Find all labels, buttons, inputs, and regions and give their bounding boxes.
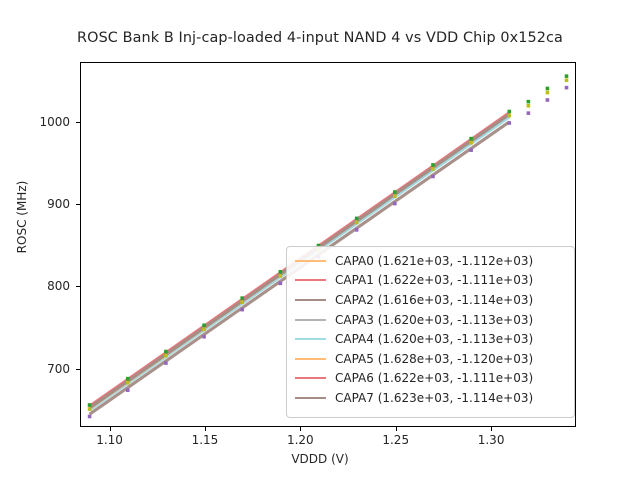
data-point [431,163,435,167]
x-tick-label: 1.20 [265,434,335,446]
legend-item-capa4[interactable]: CAPA4 (1.620e+03, -1.113e+03) [293,329,568,349]
data-point [240,296,244,300]
data-point [393,194,397,198]
data-point [279,282,283,286]
y-tick-label: 700 [10,363,70,375]
legend-color-swatch [295,299,326,301]
legend-item-capa7[interactable]: CAPA7 (1.623e+03, -1.114e+03) [293,388,568,408]
data-point [565,74,569,78]
legend-item-capa6[interactable]: CAPA6 (1.622e+03, -1.111e+03) [293,369,568,389]
data-point [164,350,168,354]
data-point [469,137,473,141]
data-point [126,381,130,385]
data-point [240,300,244,304]
legend-label: CAPA4 (1.620e+03, -1.113e+03) [335,333,533,345]
data-point [527,104,531,108]
legend-label: CAPA2 (1.616e+03, -1.114e+03) [335,294,533,306]
data-point [88,407,92,411]
legend-label: CAPA6 (1.622e+03, -1.111e+03) [335,372,533,384]
y-axis-label: ROSC (MHz) [15,137,29,297]
data-point [202,323,206,327]
x-tick-label: 1.10 [75,434,145,446]
legend-color-swatch [295,397,326,399]
legend-color-swatch [295,358,326,360]
legend-label: CAPA5 (1.628e+03, -1.120e+03) [335,353,533,365]
chart-title: ROSC Bank B Inj-cap-loaded 4-input NAND … [0,30,640,46]
data-point [527,100,531,104]
x-tick-mark [491,427,492,431]
data-point [469,148,473,152]
data-point [507,110,511,114]
data-point [546,87,550,91]
x-axis-label: VDDD (V) [0,452,640,466]
legend-item-capa1[interactable]: CAPA1 (1.622e+03, -1.111e+03) [293,271,568,291]
x-tick-label: 1.25 [361,434,431,446]
x-tick-mark [396,427,397,431]
x-tick-label: 1.30 [456,434,526,446]
legend-color-swatch [295,319,326,321]
data-point [431,167,435,171]
data-point [88,415,92,419]
data-point [507,121,511,125]
data-point [469,141,473,145]
chart-legend[interactable]: CAPA0 (1.621e+03, -1.112e+03)CAPA1 (1.62… [286,246,575,418]
data-point [279,270,283,274]
data-point [393,190,397,194]
data-point [126,377,130,381]
y-tick-mark [76,369,80,370]
data-point [88,403,92,407]
data-point [355,217,359,221]
data-point [240,308,244,312]
legend-item-capa5[interactable]: CAPA5 (1.628e+03, -1.120e+03) [293,349,568,369]
legend-item-capa2[interactable]: CAPA2 (1.616e+03, -1.114e+03) [293,290,568,310]
data-point [527,111,531,115]
data-point [431,175,435,179]
x-tick-mark [300,427,301,431]
data-point [164,354,168,358]
x-tick-mark [205,427,206,431]
legend-color-swatch [295,279,326,281]
y-tick-mark [76,122,80,123]
y-tick-mark [76,286,80,287]
data-point [546,98,550,102]
data-point [546,91,550,95]
matplotlib-figure: ROSC Bank B Inj-cap-loaded 4-input NAND … [0,0,640,480]
legend-label: CAPA7 (1.623e+03, -1.114e+03) [335,392,533,404]
data-point [164,361,168,365]
legend-label: CAPA1 (1.622e+03, -1.111e+03) [335,274,533,286]
data-point [355,221,359,225]
legend-color-swatch [295,260,326,262]
y-tick-mark [76,204,80,205]
legend-label: CAPA3 (1.620e+03, -1.113e+03) [335,314,533,326]
legend-color-swatch [295,338,326,340]
data-point [355,228,359,232]
legend-color-swatch [295,377,326,379]
data-point [279,274,283,278]
data-point [202,335,206,339]
data-point [202,328,206,332]
data-point [393,202,397,206]
data-point [126,388,130,392]
data-point [565,78,569,82]
legend-item-capa3[interactable]: CAPA3 (1.620e+03, -1.113e+03) [293,310,568,330]
x-tick-mark [110,427,111,431]
x-tick-label: 1.15 [170,434,240,446]
legend-item-capa0[interactable]: CAPA0 (1.621e+03, -1.112e+03) [293,251,568,271]
data-point [507,114,511,118]
y-tick-label: 1000 [10,116,70,128]
data-point [565,86,569,90]
legend-label: CAPA0 (1.621e+03, -1.112e+03) [335,255,533,267]
